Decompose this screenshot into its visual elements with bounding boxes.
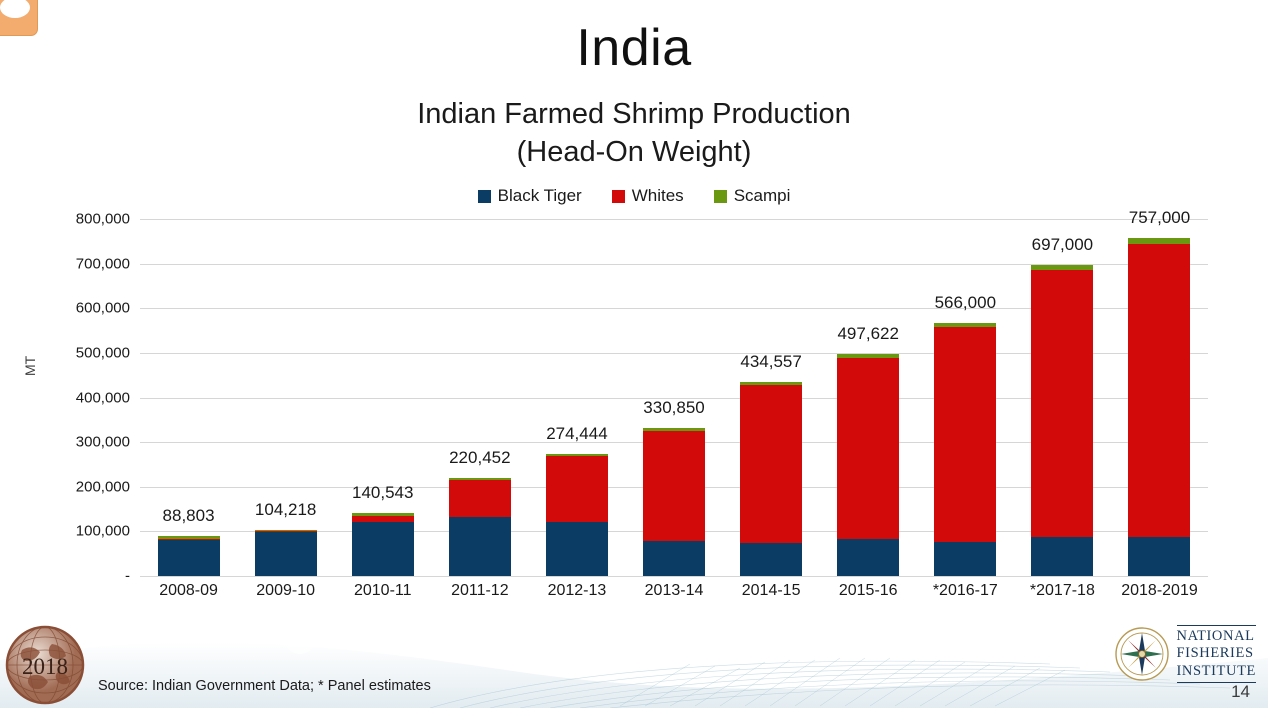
legend-label: Black Tiger: [498, 186, 582, 206]
bar-total-label: 140,543: [352, 483, 413, 503]
gridline: [140, 576, 1208, 577]
bar-segment-whites[interactable]: [546, 456, 608, 522]
bar-group: 697,000: [1014, 219, 1111, 576]
institute-line-2: FISHERIES: [1177, 645, 1257, 662]
bar-segment-black-tiger[interactable]: [546, 522, 608, 576]
bar-segment-whites[interactable]: [934, 327, 996, 542]
x-axis-tick-label: 2008-09: [140, 582, 237, 600]
legend-label: Scampi: [734, 186, 791, 206]
x-axis-tick-label: 2012-13: [528, 582, 625, 600]
bar-group: 220,452: [431, 219, 528, 576]
bar-stack[interactable]: 566,000: [934, 323, 996, 576]
bar-stack[interactable]: 757,000: [1128, 238, 1190, 576]
bar-stack[interactable]: 497,622: [837, 354, 899, 576]
x-axis-tick-label: 2010-11: [334, 582, 431, 600]
bar-stack[interactable]: 274,444: [546, 454, 608, 576]
x-axis-tick-label: 2011-12: [431, 582, 528, 600]
bar-series-container: 88,803104,218140,543220,452274,444330,85…: [140, 219, 1208, 576]
bar-total-label: 697,000: [1032, 235, 1093, 255]
bar-total-label: 220,452: [449, 448, 510, 468]
bar-segment-whites[interactable]: [449, 480, 511, 517]
bar-segment-black-tiger[interactable]: [352, 522, 414, 576]
bar-segment-black-tiger[interactable]: [934, 542, 996, 576]
legend-item-black-tiger[interactable]: Black Tiger: [478, 186, 582, 206]
bar-group: 566,000: [917, 219, 1014, 576]
legend-item-scampi[interactable]: Scampi: [714, 186, 791, 206]
y-axis-tick-label: 200,000: [42, 478, 130, 495]
y-axis-tick-label: 800,000: [42, 211, 130, 228]
bar-stack[interactable]: 140,543: [352, 513, 414, 576]
x-axis-tick-label: 2009-10: [237, 582, 334, 600]
legend-swatch-icon: [612, 190, 625, 203]
bar-segment-whites[interactable]: [1128, 244, 1190, 537]
page-title: India: [0, 18, 1268, 78]
slide: India Indian Farmed Shrimp Production (H…: [0, 0, 1268, 708]
bar-group: 757,000: [1111, 219, 1208, 576]
institute-line-3: INSTITUTE: [1177, 663, 1257, 680]
bar-segment-black-tiger[interactable]: [1128, 537, 1190, 576]
chart-legend: Black TigerWhitesScampi: [0, 186, 1268, 206]
bar-segment-whites[interactable]: [352, 516, 414, 523]
y-axis-tick-label: 700,000: [42, 255, 130, 272]
bar-segment-black-tiger[interactable]: [1031, 537, 1093, 576]
bar-stack[interactable]: 330,850: [643, 428, 705, 576]
x-axis-tick-label: *2017-18: [1014, 582, 1111, 600]
bar-segment-black-tiger[interactable]: [837, 539, 899, 576]
chart-title-line1: Indian Farmed Shrimp Production: [0, 95, 1268, 133]
bar-segment-black-tiger[interactable]: [449, 517, 511, 576]
bar-segment-whites[interactable]: [643, 431, 705, 542]
y-axis-title: MT: [22, 356, 38, 376]
bar-total-label: 104,218: [255, 500, 316, 520]
x-axis-labels: 2008-092009-102010-112011-122012-132013-…: [140, 582, 1208, 600]
compass-rose-seal: [1115, 627, 1169, 681]
national-fisheries-institute-logo: NATIONAL FISHERIES INSTITUTE: [1115, 626, 1257, 682]
bar-stack[interactable]: 697,000: [1031, 265, 1093, 576]
bar-segment-black-tiger[interactable]: [255, 532, 317, 576]
y-axis-tick-label: 100,000: [42, 523, 130, 540]
legend-item-whites[interactable]: Whites: [612, 186, 684, 206]
x-axis-tick-label: 2015-16: [820, 582, 917, 600]
chart-plot-area: 800,000700,000600,000500,000400,000300,0…: [140, 219, 1208, 576]
y-axis-tick-label: 400,000: [42, 389, 130, 406]
bar-segment-black-tiger[interactable]: [643, 541, 705, 576]
x-axis-tick-label: *2016-17: [917, 582, 1014, 600]
bar-group: 434,557: [723, 219, 820, 576]
page-number: 14: [1231, 682, 1250, 702]
bar-group: 104,218: [237, 219, 334, 576]
bar-total-label: 274,444: [546, 424, 607, 444]
bar-stack[interactable]: 88,803: [158, 536, 220, 576]
bar-stack[interactable]: 434,557: [740, 382, 802, 576]
chart-title: Indian Farmed Shrimp Production (Head-On…: [0, 95, 1268, 172]
x-axis-tick-label: 2018-2019: [1111, 582, 1208, 600]
bar-segment-whites[interactable]: [740, 385, 802, 542]
bar-total-label: 88,803: [163, 506, 215, 526]
bar-segment-whites[interactable]: [1031, 270, 1093, 537]
bar-segment-black-tiger[interactable]: [740, 543, 802, 576]
bar-group: 330,850: [625, 219, 722, 576]
bar-group: 497,622: [820, 219, 917, 576]
bar-total-label: 566,000: [935, 293, 996, 313]
x-axis-tick-label: 2013-14: [625, 582, 722, 600]
institute-wordmark: NATIONAL FISHERIES INSTITUTE: [1177, 625, 1257, 682]
bar-segment-black-tiger[interactable]: [158, 540, 220, 576]
bar-total-label: 757,000: [1129, 208, 1190, 228]
svg-text:2018: 2018: [22, 654, 68, 679]
chart-title-line2: (Head-On Weight): [0, 133, 1268, 171]
bar-total-label: 497,622: [837, 324, 898, 344]
bar-group: 140,543: [334, 219, 431, 576]
y-axis-tick-label: 300,000: [42, 434, 130, 451]
institute-line-1: NATIONAL: [1177, 628, 1257, 645]
bar-stack[interactable]: 104,218: [255, 530, 317, 576]
bar-total-label: 434,557: [740, 352, 801, 372]
legend-swatch-icon: [478, 190, 491, 203]
source-note: Source: Indian Government Data; * Panel …: [98, 678, 431, 694]
globe-logo: 2018: [2, 622, 88, 708]
bar-group: 88,803: [140, 219, 237, 576]
legend-swatch-icon: [714, 190, 727, 203]
bar-stack[interactable]: 220,452: [449, 478, 511, 576]
y-axis-tick-label: 600,000: [42, 300, 130, 317]
comment-bubble-shape: [0, 0, 30, 18]
y-axis-tick-label: -: [42, 568, 130, 585]
bar-group: 274,444: [528, 219, 625, 576]
legend-label: Whites: [632, 186, 684, 206]
bar-total-label: 330,850: [643, 398, 704, 418]
y-axis-tick-label: 500,000: [42, 344, 130, 361]
bar-segment-whites[interactable]: [837, 358, 899, 539]
x-axis-tick-label: 2014-15: [723, 582, 820, 600]
